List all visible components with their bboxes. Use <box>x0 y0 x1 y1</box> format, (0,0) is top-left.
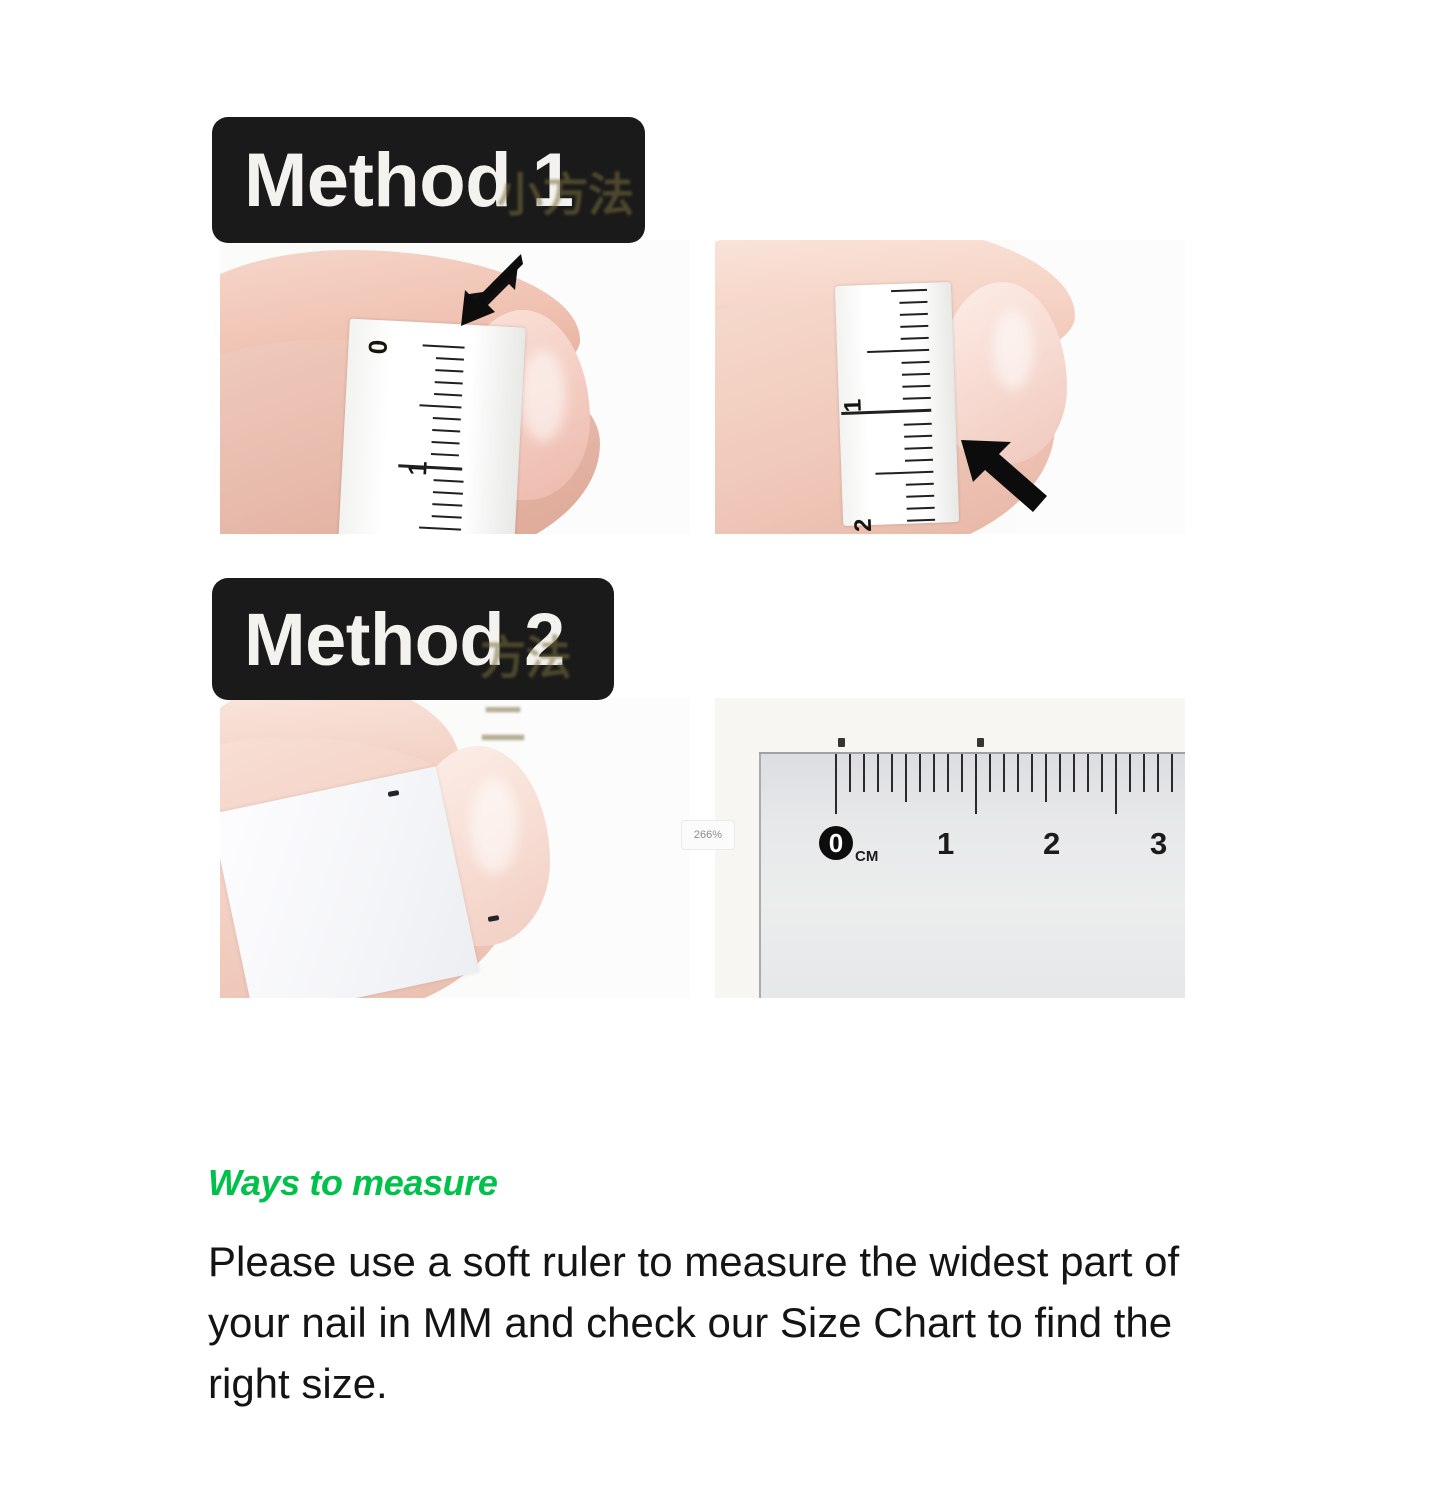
ruler-number: 1 <box>937 826 954 862</box>
method-1-badge: 小方法 Method 1 <box>212 117 645 243</box>
method2-photo-right: 0 CM 1 2 3 <box>715 698 1185 998</box>
ways-to-measure-heading: Ways to measure <box>208 1162 497 1204</box>
mark-indicator <box>977 738 984 747</box>
method-1-ghost-text: 小方法 <box>497 159 634 225</box>
mark-indicator <box>838 738 845 747</box>
ways-to-measure-body: Please use a soft ruler to measure the w… <box>208 1232 1238 1415</box>
method1-photo-left: 0 1 <box>220 240 690 534</box>
zoom-level-indicator: 266% <box>681 820 735 850</box>
soft-tape: 1 2 <box>835 282 959 526</box>
up-left-arrow-icon <box>955 430 1065 525</box>
method1-photo-right: 1 2 <box>715 240 1185 534</box>
ruler-number: 3 <box>1150 826 1167 862</box>
method-2-ghost-text: 方法二 <box>480 622 614 754</box>
ruler-unit-label: CM <box>855 848 878 865</box>
method-2-badge: 方法二 Method 2 <box>212 578 614 700</box>
ruler-number: 2 <box>1043 826 1060 862</box>
soft-tape: 0 1 <box>338 319 525 534</box>
ruler-zero-marker: 0 <box>819 826 853 860</box>
method2-photo-left <box>220 698 690 998</box>
method-1-photo-row: 0 1 <box>220 240 1185 534</box>
down-left-arrow-icon <box>435 250 525 335</box>
